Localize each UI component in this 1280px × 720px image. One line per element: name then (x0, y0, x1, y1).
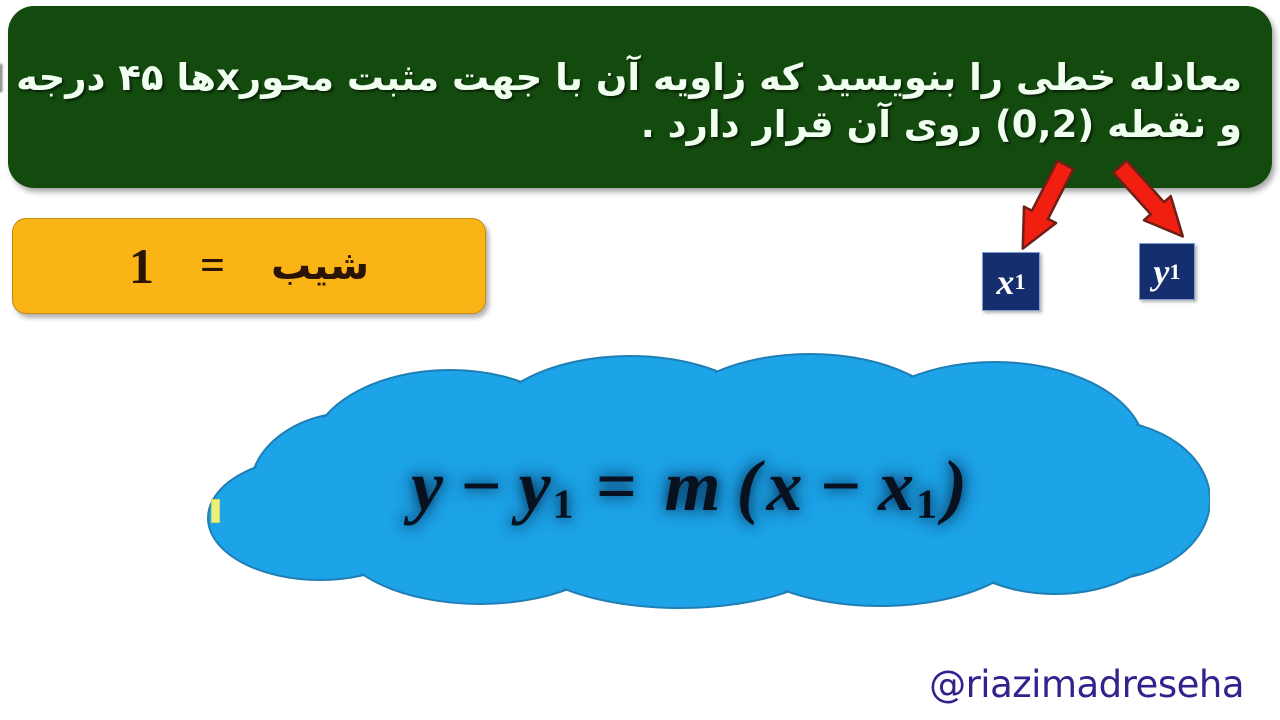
question-line-2: و نقطه (0,2) روی آن قرار دارد . (38, 101, 1242, 148)
equals-sign: = (200, 244, 225, 288)
cloud-shape-icon (150, 350, 1210, 610)
slope-box: 1 = شیب (12, 218, 486, 314)
arrow-to-y1-icon (1095, 145, 1205, 255)
variable-chip-x1: x1 (982, 252, 1040, 311)
slide-canvas: معادله خطی را بنویسید که زاویه آن با جهت… (0, 0, 1280, 720)
yellow-caret-mark (211, 499, 220, 523)
variable-chip-y1: y1 (1139, 243, 1195, 300)
chip-x1-sub: 1 (1014, 269, 1025, 295)
slope-label: شیب (271, 246, 369, 286)
chip-y1-base: y (1153, 251, 1169, 293)
slope-value: 1 (129, 241, 154, 291)
chip-y1-sub: 1 (1169, 259, 1180, 285)
arrow-to-x1-icon (990, 150, 1100, 260)
watermark-handle: @riazimadreseha (929, 663, 1244, 706)
formula-cloud: y−y1=m(x−x1) (150, 350, 1210, 610)
chip-x1-base: x (996, 261, 1014, 303)
question-line-1: معادله خطی را بنویسید که زاویه آن با جهت… (38, 54, 1242, 101)
